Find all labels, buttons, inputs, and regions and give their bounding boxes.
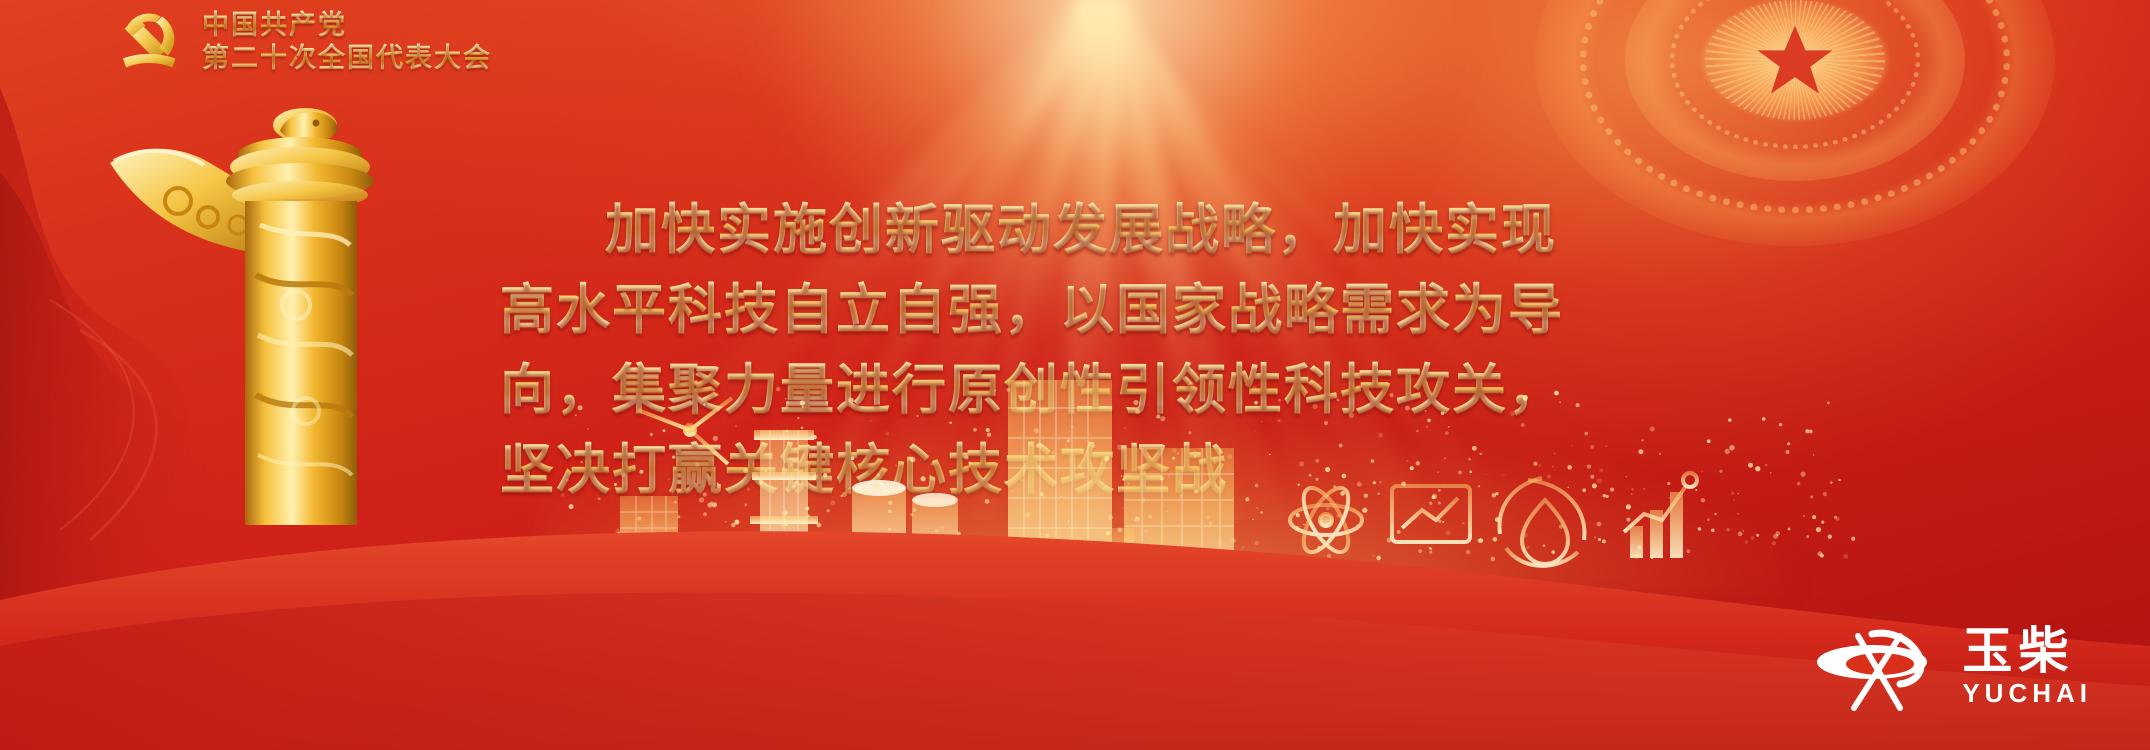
- pillar-capital: [226, 137, 374, 209]
- cpc-hammer-sickle-emblem-icon: [112, 6, 188, 78]
- yuchai-name-cn: 玉柴: [1962, 624, 2074, 678]
- headline-line-2: 高水平科技自立自强，以国家战略需求为导: [500, 270, 1740, 350]
- headline-line-1: 加快实施创新驱动发展战略，加快实现: [500, 190, 1740, 270]
- sparkle-particle: [1805, 429, 1809, 433]
- cpc-logo-line-2: 第二十次全国代表大会: [202, 43, 492, 74]
- yuchai-oval-mark-icon: [1814, 620, 1950, 712]
- cpc-congress-logo: 中国共产党 第二十次全国代表大会: [112, 6, 492, 78]
- yuchai-name-en: YUCHAI: [1962, 678, 2092, 708]
- five-pointed-star-icon: [1747, 12, 1843, 108]
- sparkle-particle: [1827, 401, 1830, 404]
- sparkle-particle: [1809, 430, 1813, 434]
- pillar-top-beast: [273, 108, 337, 142]
- banner-root: 中国共产党 第二十次全国代表大会 加快实施创新驱动发展战略，加快实现 高水平科技…: [0, 0, 2150, 750]
- yuchai-brand-logo: 玉柴 YUCHAI: [1814, 620, 2092, 712]
- cpc-logo-line-1: 中国共产党: [202, 10, 492, 41]
